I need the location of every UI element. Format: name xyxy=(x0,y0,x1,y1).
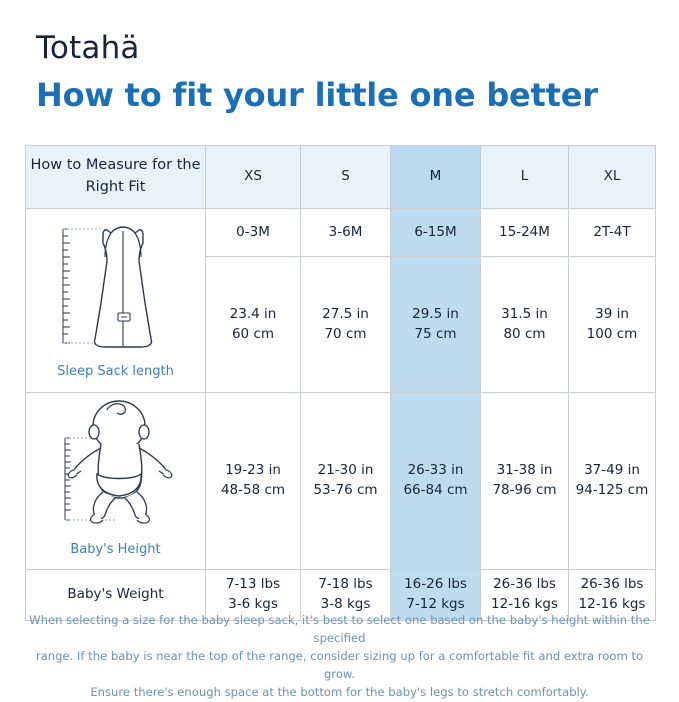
page-title: How to fit your little one better xyxy=(36,76,598,114)
age-xl: 2T-4T xyxy=(569,209,656,257)
height-xl: 37-49 in 94-125 cm xyxy=(569,393,656,570)
size-chart-table-wrapper: How to Measure for the Right Fit XS S M … xyxy=(25,145,655,621)
height-s-in: 21-30 in xyxy=(302,461,389,481)
header-size-xs[interactable]: XS xyxy=(206,146,301,209)
length-m: 29.5 in 75 cm xyxy=(391,257,481,393)
height-m: 26-33 in 66-84 cm xyxy=(391,393,481,570)
length-l: 31.5 in 80 cm xyxy=(481,257,569,393)
header-measure-label: How to Measure for the Right Fit xyxy=(26,146,206,209)
length-xs: 23.4 in 60 cm xyxy=(206,257,301,393)
weight-s-lbs: 7-18 lbs xyxy=(302,575,389,595)
size-chart-table: How to Measure for the Right Fit XS S M … xyxy=(25,145,656,621)
brand-logo: Totahä xyxy=(36,26,140,70)
size-guide-page: Totahä How to fit your little one better… xyxy=(0,0,679,679)
header-size-m[interactable]: M xyxy=(391,146,481,209)
baby-illustration xyxy=(41,400,191,539)
height-m-cm: 66-84 cm xyxy=(392,481,479,501)
length-m-in: 29.5 in xyxy=(392,305,479,325)
height-xs: 19-23 in 48-58 cm xyxy=(206,393,301,570)
sizing-note-line-1: When selecting a size for the baby sleep… xyxy=(22,612,657,648)
sleep-sack-illustration xyxy=(41,217,191,362)
height-l-in: 31-38 in xyxy=(482,461,567,481)
brand-name: Totahä xyxy=(36,33,140,64)
length-l-cm: 80 cm xyxy=(482,325,567,345)
height-xs-in: 19-23 in xyxy=(207,461,299,481)
age-xs: 0-3M xyxy=(206,209,301,257)
header-size-s[interactable]: S xyxy=(301,146,391,209)
length-xs-cm: 60 cm xyxy=(207,325,299,345)
weight-xl-lbs: 26-36 lbs xyxy=(570,575,654,595)
height-xs-cm: 48-58 cm xyxy=(207,481,299,501)
header-size-xl[interactable]: XL xyxy=(569,146,656,209)
baby-illustration-cell: Baby's Height xyxy=(26,393,206,570)
height-s-cm: 53-76 cm xyxy=(302,481,389,501)
age-l: 15-24M xyxy=(481,209,569,257)
header-size-l[interactable]: L xyxy=(481,146,569,209)
sleep-sack-length-caption: Sleep Sack length xyxy=(57,363,174,382)
weight-l-lbs: 26-36 lbs xyxy=(482,575,567,595)
length-xl-in: 39 in xyxy=(570,305,654,325)
table-row-age: Sleep Sack length 0-3M 3-6M 6-15M 15-24M… xyxy=(26,209,656,257)
height-l: 31-38 in 78-96 cm xyxy=(481,393,569,570)
height-l-cm: 78-96 cm xyxy=(482,481,567,501)
baby-height-caption: Baby's Height xyxy=(70,541,160,560)
sizing-note-line-3: Ensure there's enough space at the botto… xyxy=(22,684,657,702)
age-s: 3-6M xyxy=(301,209,391,257)
length-xl-cm: 100 cm xyxy=(570,325,654,345)
weight-xs-lbs: 7-13 lbs xyxy=(207,575,299,595)
sleep-sack-illustration-cell: Sleep Sack length xyxy=(26,209,206,393)
height-xl-in: 37-49 in xyxy=(570,461,654,481)
length-xs-in: 23.4 in xyxy=(207,305,299,325)
height-xl-cm: 94-125 cm xyxy=(570,481,654,501)
length-s-in: 27.5 in xyxy=(302,305,389,325)
length-s: 27.5 in 70 cm xyxy=(301,257,391,393)
age-m: 6-15M xyxy=(391,209,481,257)
length-xl: 39 in 100 cm xyxy=(569,257,656,393)
sizing-note-line-2: range. If the baby is near the top of th… xyxy=(22,648,657,684)
table-header-row: How to Measure for the Right Fit XS S M … xyxy=(26,146,656,209)
length-s-cm: 70 cm xyxy=(302,325,389,345)
height-m-in: 26-33 in xyxy=(392,461,479,481)
table-row-baby-height: Baby's Height 19-23 in 48-58 cm 21-30 in… xyxy=(26,393,656,570)
sizing-note: When selecting a size for the baby sleep… xyxy=(22,612,657,702)
length-m-cm: 75 cm xyxy=(392,325,479,345)
weight-m-lbs: 16-26 lbs xyxy=(392,575,479,595)
height-s: 21-30 in 53-76 cm xyxy=(301,393,391,570)
length-l-in: 31.5 in xyxy=(482,305,567,325)
